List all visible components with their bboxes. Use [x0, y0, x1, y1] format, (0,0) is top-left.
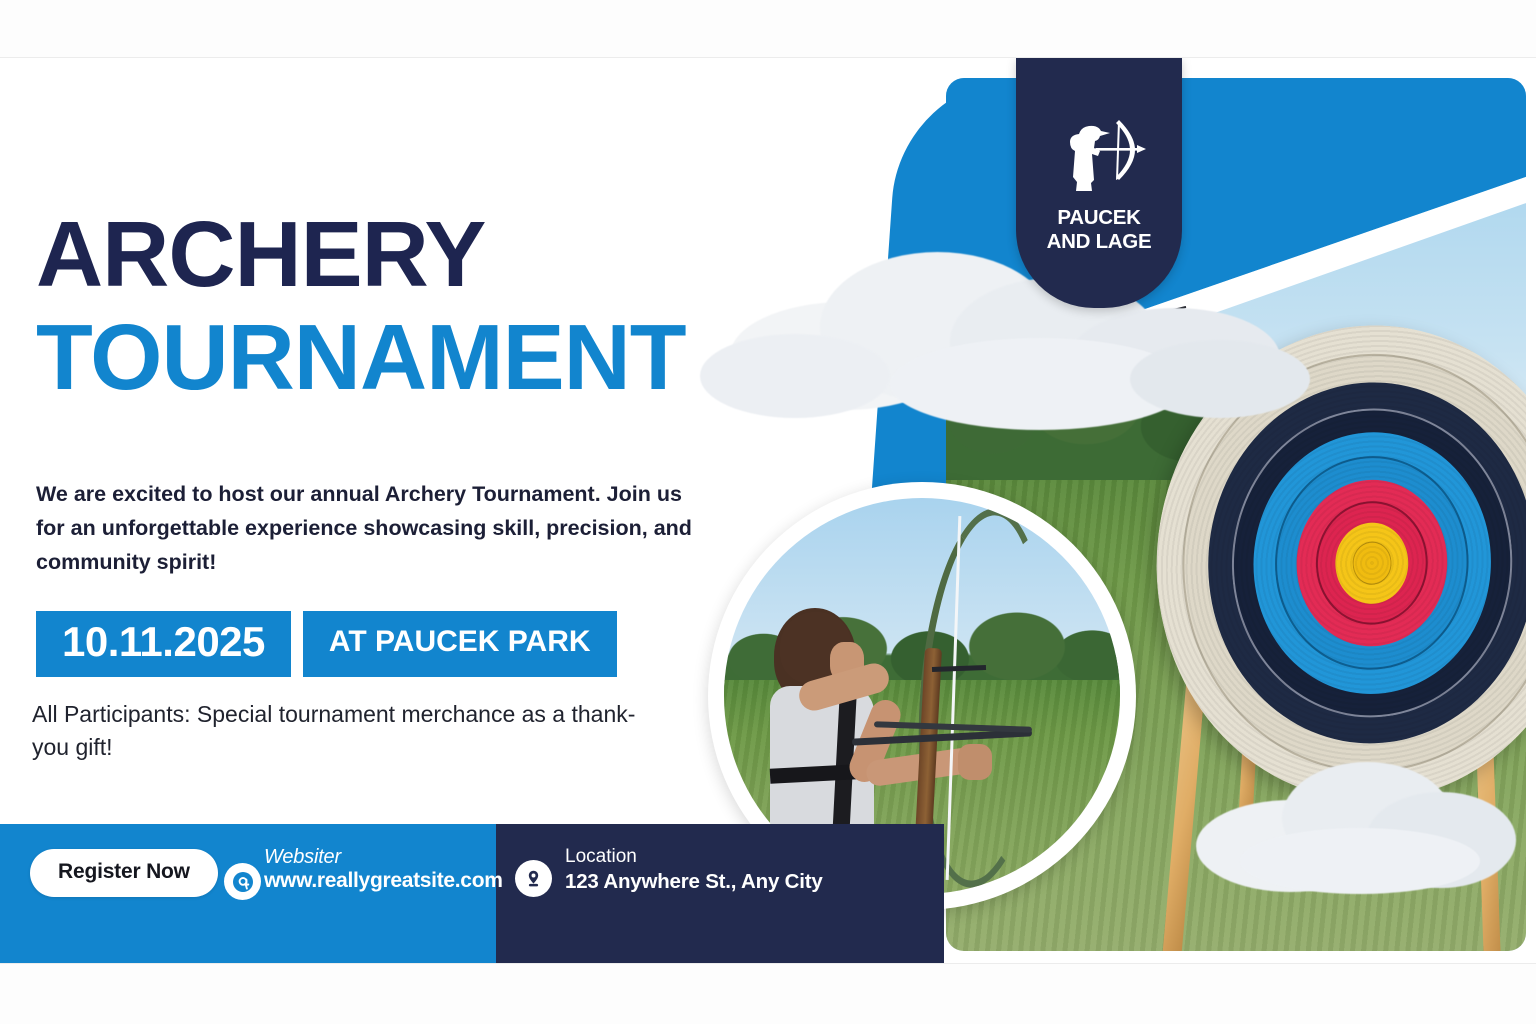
location-label: Location: [565, 846, 823, 869]
register-now-button[interactable]: Register Now: [30, 849, 218, 897]
brand-logo-badge: PAUCEK AND LAGE: [1016, 58, 1182, 308]
archery-tournament-poster: PAUCEK AND LAGE ARCHERY TOURNAMENT We ar…: [0, 58, 1536, 963]
participants-note: All Participants: Special tournament mer…: [32, 698, 652, 765]
logo-line-1: PAUCEK: [1047, 206, 1152, 230]
footer-bar: Register Now Websiter www.reallygreatsit…: [0, 824, 1536, 963]
page-title: ARCHERY TOURNAMENT: [36, 208, 816, 407]
headline-tournament: TOURNAMENT: [36, 307, 816, 407]
event-badges: 10.11.2025 AT PAUCEK PARK: [36, 611, 617, 677]
at-sign-icon: [224, 863, 261, 900]
map-pin-icon: [515, 860, 552, 897]
website-info: Websiter www.reallygreatsite.com: [264, 846, 503, 893]
intro-paragraph: We are excited to host our annual Archer…: [36, 478, 716, 580]
event-venue-badge: AT PAUCEK PARK: [303, 611, 617, 677]
headline-archery: ARCHERY: [36, 208, 816, 301]
poster-canvas: PAUCEK AND LAGE ARCHERY TOURNAMENT We ar…: [0, 0, 1536, 1024]
archer-bow-icon: [1049, 112, 1149, 194]
event-date-badge: 10.11.2025: [36, 611, 291, 677]
logo-text: PAUCEK AND LAGE: [1047, 206, 1152, 254]
location-info: Location 123 Anywhere St., Any City: [565, 846, 823, 894]
website-label: Websiter: [264, 846, 503, 869]
location-address: 123 Anywhere St., Any City: [565, 869, 823, 895]
website-url[interactable]: www.reallygreatsite.com: [264, 869, 503, 893]
logo-line-2: AND LAGE: [1047, 230, 1152, 254]
